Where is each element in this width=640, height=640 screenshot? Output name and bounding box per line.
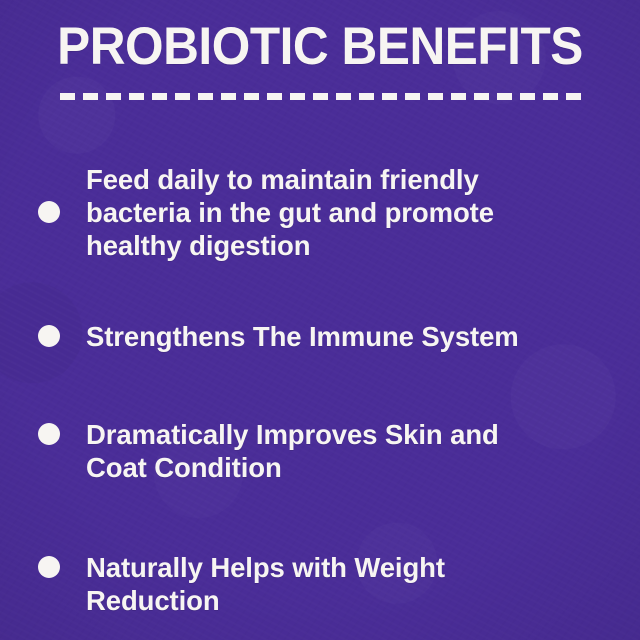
divider-dash	[566, 93, 581, 100]
divider-dash	[60, 93, 75, 100]
benefit-text: Naturally Helps with Weight Reduction	[86, 551, 612, 617]
benefit-text-line: healthy digestion	[86, 229, 612, 262]
benefit-text: Strengthens The Immune System	[86, 320, 612, 353]
divider-dash	[290, 93, 305, 100]
divider-dash	[313, 93, 328, 100]
probiotic-benefits-poster: PROBIOTIC BENEFITS Feed daily to maintai…	[0, 0, 640, 640]
page-title: PROBIOTIC BENEFITS	[21, 18, 619, 76]
list-item: Feed daily to maintain friendly bacteria…	[38, 163, 612, 262]
divider-dash	[474, 93, 489, 100]
divider-dash	[267, 93, 282, 100]
divider-dash	[405, 93, 420, 100]
divider-dash	[543, 93, 558, 100]
benefit-text: Dramatically Improves Skin and Coat Cond…	[86, 418, 612, 484]
divider-dash	[336, 93, 351, 100]
bullet-dot-icon	[38, 201, 60, 223]
bullet-dot-icon	[38, 556, 60, 578]
divider-dash	[520, 93, 535, 100]
dashed-divider	[0, 93, 640, 100]
benefit-text-line: Coat Condition	[86, 451, 612, 484]
divider-dash	[221, 93, 236, 100]
divider-dash	[359, 93, 374, 100]
benefit-text-line: Naturally Helps with Weight	[86, 551, 612, 584]
divider-dash	[382, 93, 397, 100]
list-item: Dramatically Improves Skin and Coat Cond…	[38, 418, 612, 484]
benefit-text-line: Feed daily to maintain friendly	[86, 163, 612, 196]
benefit-text: Feed daily to maintain friendly bacteria…	[86, 163, 612, 262]
benefit-text-line: Reduction	[86, 584, 612, 617]
poster-content: PROBIOTIC BENEFITS Feed daily to maintai…	[0, 0, 640, 640]
divider-dash	[83, 93, 98, 100]
divider-dash	[198, 93, 213, 100]
divider-dash	[244, 93, 259, 100]
benefit-text-line: Strengthens The Immune System	[86, 320, 612, 353]
divider-dash	[106, 93, 121, 100]
divider-dash	[129, 93, 144, 100]
divider-dash	[428, 93, 443, 100]
divider-dash	[451, 93, 466, 100]
divider-dash	[152, 93, 167, 100]
bullet-dot-icon	[38, 325, 60, 347]
benefit-text-line: bacteria in the gut and promote	[86, 196, 612, 229]
list-item: Naturally Helps with Weight Reduction	[38, 551, 612, 617]
divider-dash	[175, 93, 190, 100]
divider-dash	[497, 93, 512, 100]
bullet-dot-icon	[38, 423, 60, 445]
list-item: Strengthens The Immune System	[38, 320, 612, 353]
benefit-text-line: Dramatically Improves Skin and	[86, 418, 612, 451]
